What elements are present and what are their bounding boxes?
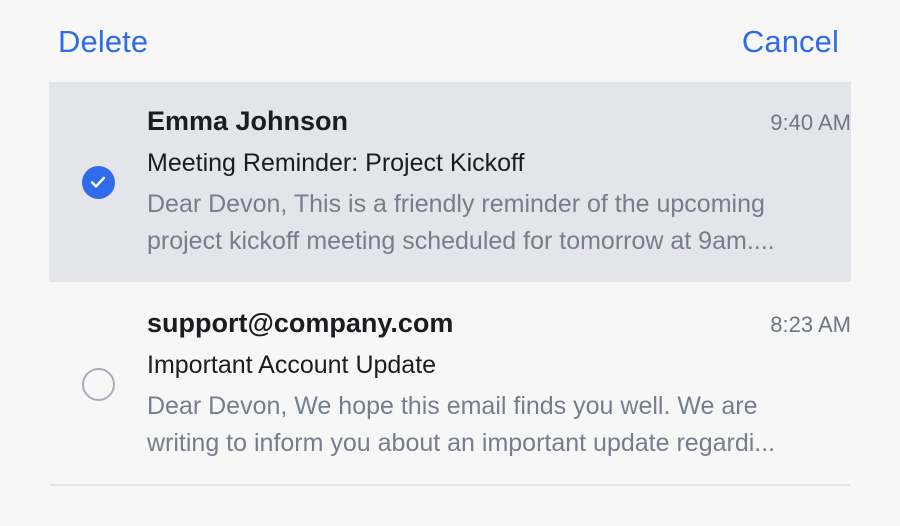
email-sender: Emma Johnson [147, 104, 348, 139]
email-content: Emma Johnson 9:40 AM Meeting Reminder: P… [147, 104, 851, 260]
email-list-item[interactable]: support@company.com 8:23 AM Important Ac… [49, 284, 851, 484]
email-timestamp: 9:40 AM [770, 109, 851, 138]
checkbox-checked-icon[interactable] [82, 166, 115, 199]
email-header-line: support@company.com 8:23 AM [147, 306, 851, 341]
email-sender: support@company.com [147, 306, 453, 341]
checkbox-unchecked-icon[interactable] [82, 368, 115, 401]
email-preview: Dear Devon, We hope this email finds you… [147, 388, 807, 462]
email-header-line: Emma Johnson 9:40 AM [147, 104, 851, 139]
email-preview: Dear Devon, This is a friendly reminder … [147, 186, 807, 260]
email-list: Emma Johnson 9:40 AM Meeting Reminder: P… [0, 82, 900, 486]
selection-column [49, 368, 147, 401]
email-timestamp: 8:23 AM [770, 311, 851, 340]
email-content: support@company.com 8:23 AM Important Ac… [147, 306, 851, 462]
email-subject: Meeting Reminder: Project Kickoff [147, 147, 851, 180]
email-list-item[interactable]: Emma Johnson 9:40 AM Meeting Reminder: P… [49, 82, 851, 282]
cancel-button[interactable]: Cancel [742, 26, 839, 57]
email-selection-screen: Delete Cancel Emma Johnson 9:40 AM [0, 0, 900, 526]
email-subject: Important Account Update [147, 349, 851, 382]
delete-button[interactable]: Delete [58, 26, 148, 57]
action-toolbar: Delete Cancel [0, 0, 900, 82]
selection-column [49, 166, 147, 199]
list-divider [50, 484, 850, 486]
